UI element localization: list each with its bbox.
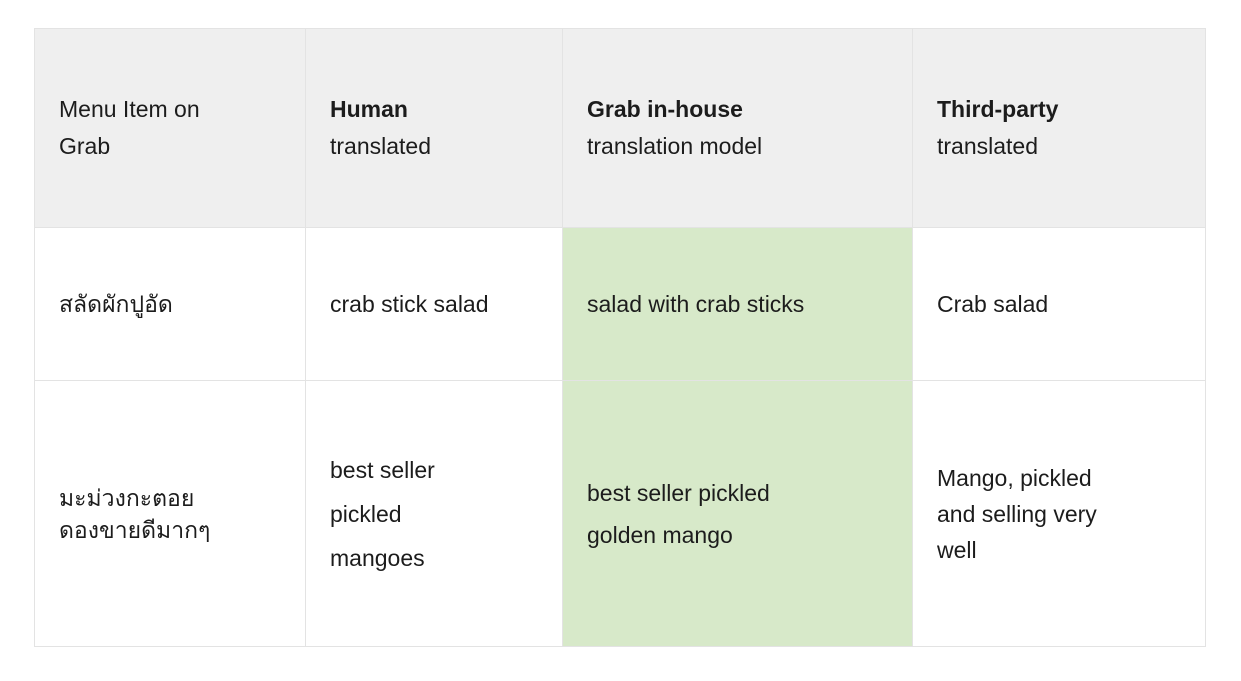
third-party-translation-line3: well (937, 532, 1181, 568)
human-translation-line3: mangoes (330, 536, 538, 580)
third-party-translation-line1: Crab salad (937, 288, 1181, 320)
cell-grab-translation: best seller pickled golden mango (563, 381, 913, 647)
cell-grab-translation: salad with crab sticks (563, 228, 913, 381)
translation-comparison-table: Menu Item on Grab Human translated Grab … (34, 28, 1206, 647)
column-header-third-party: Third-party translated (913, 29, 1206, 228)
column-header-human-strong: Human (330, 91, 538, 128)
human-translation-line1: crab stick salad (330, 288, 538, 320)
column-header-grab-strong: Grab in-house (587, 91, 888, 128)
column-header-grab-in-house: Grab in-house translation model (563, 29, 913, 228)
cell-third-party-translation: Crab salad (913, 228, 1206, 381)
third-party-translation-line2: and selling very (937, 496, 1181, 532)
cell-menu-item-source: มะม่วงกะตอย ดองขายดีมากๆ (35, 381, 306, 647)
menu-item-source-line1: สลัดผักปูอัด (59, 288, 281, 320)
column-header-menu-item-line2: Grab (59, 128, 281, 165)
grab-translation-line2: golden mango (587, 514, 888, 556)
grab-translation-line1: best seller pickled (587, 472, 888, 514)
table-row: มะม่วงกะตอย ดองขายดีมากๆ best seller pic… (35, 381, 1206, 647)
cell-human-translation: best seller pickled mangoes (306, 381, 563, 647)
column-header-grab-plain: translation model (587, 128, 888, 165)
column-header-third-party-strong: Third-party (937, 91, 1181, 128)
human-translation-line2: pickled (330, 492, 538, 536)
grab-translation-line1: salad with crab sticks (587, 288, 888, 320)
menu-item-source-line2: ดองขายดีมากๆ (59, 514, 281, 546)
cell-third-party-translation: Mango, pickled and selling very well (913, 381, 1206, 647)
column-header-third-party-plain: translated (937, 128, 1181, 165)
column-header-menu-item-line1: Menu Item on (59, 91, 281, 128)
cell-menu-item-source: สลัดผักปูอัด (35, 228, 306, 381)
column-header-human-plain: translated (330, 128, 538, 165)
table-row: สลัดผักปูอัด crab stick salad salad with… (35, 228, 1206, 381)
human-translation-line1: best seller (330, 448, 538, 492)
menu-item-source-line1: มะม่วงกะตอย (59, 482, 281, 514)
third-party-translation-line1: Mango, pickled (937, 460, 1181, 496)
column-header-human: Human translated (306, 29, 563, 228)
cell-human-translation: crab stick salad (306, 228, 563, 381)
column-header-menu-item: Menu Item on Grab (35, 29, 306, 228)
table-header-row: Menu Item on Grab Human translated Grab … (35, 29, 1206, 228)
